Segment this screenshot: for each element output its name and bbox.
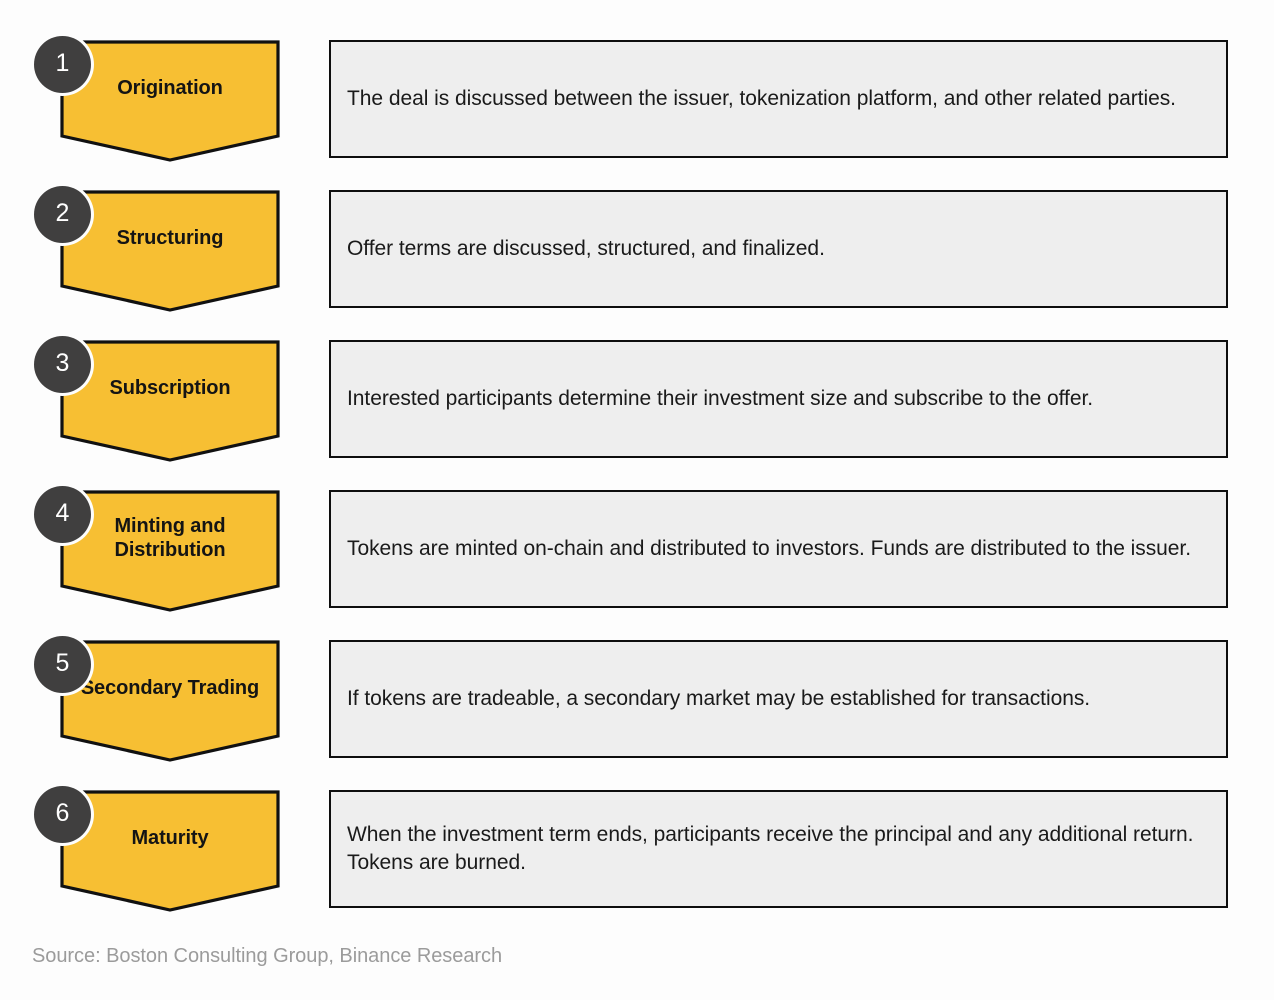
- step-description-box: Offer terms are discussed, structured, a…: [329, 190, 1228, 308]
- source-note: Source: Boston Consulting Group, Binance…: [32, 945, 502, 968]
- step-chevron: Subscription: [60, 340, 280, 462]
- step-chevron: Maturity: [60, 790, 280, 912]
- process-flow-diagram: 1OriginationThe deal is discussed betwee…: [0, 0, 1274, 1000]
- step-chevron: Structuring: [60, 190, 280, 312]
- step-chevron: Origination: [60, 40, 280, 162]
- step-chevron: Secondary Trading: [60, 640, 280, 762]
- step-description-text: Interested participants determine their …: [331, 385, 1109, 413]
- step-number-badge: 4: [34, 486, 91, 543]
- step-chevron: Minting and Distribution: [60, 490, 280, 612]
- process-step: 6MaturityWhen the investment term ends, …: [0, 772, 1274, 922]
- process-step: 4Minting and DistributionTokens are mint…: [0, 472, 1274, 622]
- step-number-badge: 5: [34, 636, 91, 693]
- process-step: 3SubscriptionInterested participants det…: [0, 322, 1274, 472]
- process-step: 5Secondary TradingIf tokens are tradeabl…: [0, 622, 1274, 772]
- step-description-box: The deal is discussed between the issuer…: [329, 40, 1228, 158]
- step-description-box: Tokens are minted on-chain and distribut…: [329, 490, 1228, 608]
- step-description-text: Offer terms are discussed, structured, a…: [331, 235, 841, 263]
- step-number-badge: 2: [34, 186, 91, 243]
- step-description-box: Interested participants determine their …: [329, 340, 1228, 458]
- step-description-text: When the investment term ends, participa…: [331, 821, 1226, 877]
- step-description-text: If tokens are tradeable, a secondary mar…: [331, 685, 1106, 713]
- step-description-box: If tokens are tradeable, a secondary mar…: [329, 640, 1228, 758]
- step-description-box: When the investment term ends, participa…: [329, 790, 1228, 908]
- process-step: 1OriginationThe deal is discussed betwee…: [0, 22, 1274, 172]
- step-number-badge: 6: [34, 786, 91, 843]
- process-step: 2StructuringOffer terms are discussed, s…: [0, 172, 1274, 322]
- step-number-badge: 1: [34, 36, 91, 93]
- step-number-badge: 3: [34, 336, 91, 393]
- step-description-text: The deal is discussed between the issuer…: [331, 85, 1192, 113]
- step-description-text: Tokens are minted on-chain and distribut…: [331, 535, 1207, 563]
